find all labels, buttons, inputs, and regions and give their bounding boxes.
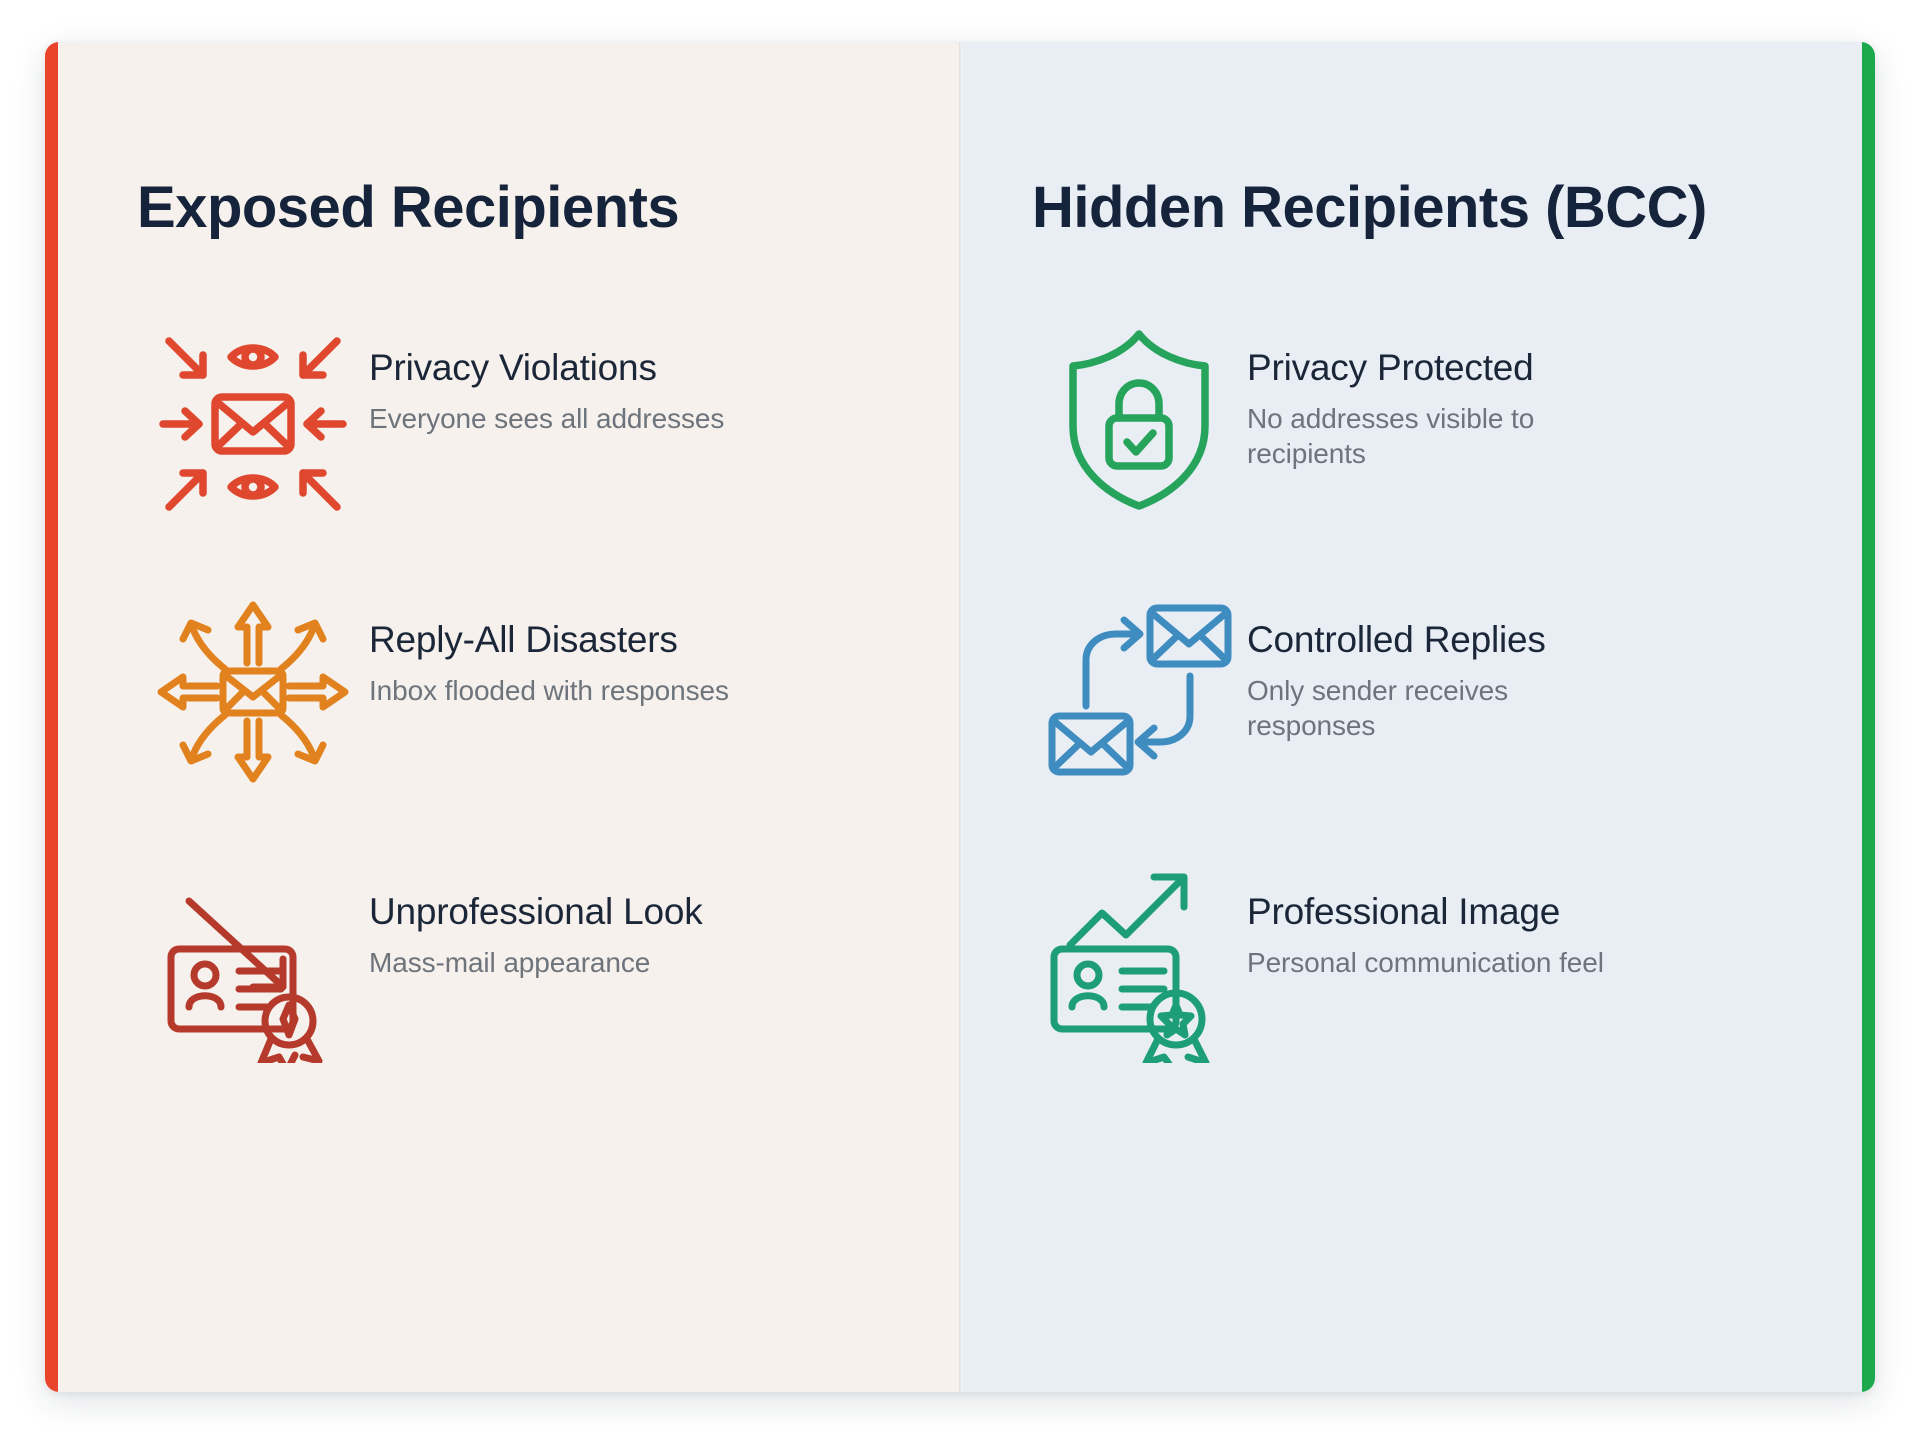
shield-lock-check-icon: [1032, 314, 1247, 524]
list-item-title: Controlled Replies: [1247, 618, 1622, 662]
list-item-title: Professional Image: [1247, 890, 1622, 934]
list-item-subtitle: No addresses visible to recipients: [1247, 401, 1622, 473]
list-item-subtitle: Only sender receives responses: [1247, 673, 1622, 745]
exposed-recipients-panel: Exposed Recipients: [45, 42, 960, 1392]
right-panel-rows: Privacy Protected No addresses visible t…: [1032, 314, 1835, 1130]
list-item-text: Privacy Violations Everyone sees all add…: [369, 314, 729, 436]
list-item-title: Unprofessional Look: [369, 890, 729, 934]
list-item-subtitle: Everyone sees all addresses: [369, 401, 729, 437]
list-item: Privacy Protected No addresses visible t…: [1032, 314, 1835, 586]
list-item-text: Reply-All Disasters Inbox flooded with r…: [369, 586, 729, 708]
two-envelopes-reply-arrows-icon: [1032, 586, 1247, 796]
id-card-downward-arrow-broken-badge-icon: [137, 858, 369, 1068]
left-panel-title: Exposed Recipients: [137, 174, 679, 241]
list-item-subtitle: Personal communication feel: [1247, 945, 1622, 981]
list-item: Controlled Replies Only sender receives …: [1032, 586, 1835, 858]
list-item: Professional Image Personal communicatio…: [1032, 858, 1835, 1130]
list-item-title: Reply-All Disasters: [369, 618, 729, 662]
envelope-radiating-arrows-icon: [137, 586, 369, 796]
list-item-text: Professional Image Personal communicatio…: [1247, 858, 1622, 980]
list-item-title: Privacy Protected: [1247, 346, 1622, 390]
list-item: Unprofessional Look Mass-mail appearance: [137, 858, 920, 1130]
list-item-subtitle: Mass-mail appearance: [369, 945, 729, 981]
list-item: Reply-All Disasters Inbox flooded with r…: [137, 586, 920, 858]
infographic-canvas: Exposed Recipients: [0, 0, 1920, 1434]
envelope-watched-by-eyes-icon: [137, 314, 369, 524]
id-card-upward-arrow-award-badge-icon: [1032, 858, 1247, 1068]
comparison-card: Exposed Recipients: [45, 42, 1875, 1392]
hidden-recipients-panel: Hidden Recipients (BCC): [960, 42, 1875, 1392]
list-item-text: Unprofessional Look Mass-mail appearance: [369, 858, 729, 980]
list-item-text: Controlled Replies Only sender receives …: [1247, 586, 1622, 744]
list-item-subtitle: Inbox flooded with responses: [369, 673, 729, 709]
list-item-text: Privacy Protected No addresses visible t…: [1247, 314, 1622, 472]
right-panel-title: Hidden Recipients (BCC): [1032, 174, 1707, 241]
list-item-title: Privacy Violations: [369, 346, 729, 390]
panel-divider: [959, 42, 962, 1392]
left-panel-rows: Privacy Violations Everyone sees all add…: [137, 314, 920, 1130]
list-item: Privacy Violations Everyone sees all add…: [137, 314, 920, 586]
